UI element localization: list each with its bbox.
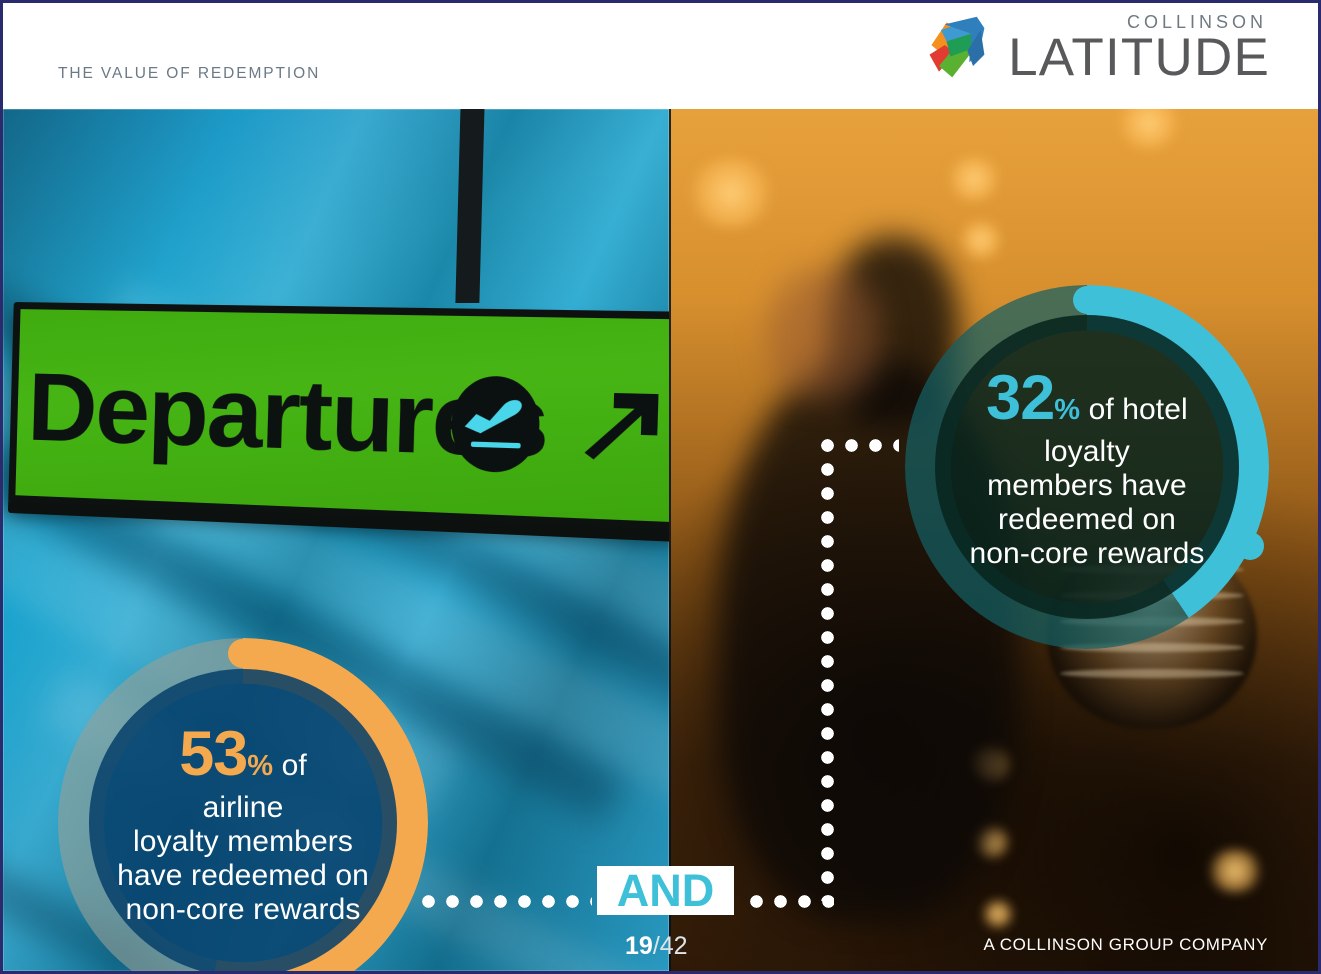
blurred-person — [769, 269, 879, 399]
page-number-total: /42 — [653, 932, 688, 960]
stat-text-airline: 53% of airline loyalty members have rede… — [101, 719, 385, 928]
dotted-connector-left — [422, 895, 592, 908]
brand-logo: COLLINSON LATITUDE — [918, 13, 1270, 83]
collinson-latitude-logo-mark-icon — [918, 13, 994, 83]
slide-body: Departures — [3, 109, 1321, 971]
stat-value-hotel: 32 — [986, 363, 1054, 433]
stat-line3-airline: loyalty members — [133, 825, 353, 858]
page-number: 19/42 — [625, 934, 688, 959]
departing-plane-icon — [450, 375, 541, 473]
logo-latitude-text: LATITUDE — [1008, 33, 1270, 83]
and-connector-badge: AND — [597, 866, 734, 915]
bokeh-light — [945, 155, 1003, 203]
page-number-current: 19 — [625, 932, 653, 960]
donut-arc-cap-end — [1236, 532, 1264, 560]
company-footer-text: A COLLINSON GROUP COMPANY — [983, 935, 1268, 955]
photo-divider — [669, 109, 671, 971]
sign-panel: Departures — [8, 302, 669, 530]
stat-text-hotel: 32% of hotel loyalty members have redeem… — [953, 363, 1220, 572]
stat-line5-hotel: non-core rewards — [969, 537, 1204, 570]
page-title: THE VALUE OF REDEMPTION — [58, 65, 320, 83]
donut-arc-cap-start — [1073, 286, 1101, 314]
stat-line4-airline: have redeemed on — [117, 859, 369, 892]
stat-line1-airline: of — [273, 749, 307, 782]
donut-core-hotel: 32% of hotel loyalty members have redeem… — [935, 315, 1239, 619]
arrow-up-right-icon — [561, 377, 669, 480]
slide-header: THE VALUE OF REDEMPTION COLLINSON LATITU… — [3, 3, 1318, 109]
stat-donut-hotel: 32% of hotel loyalty members have redeem… — [905, 285, 1269, 649]
stat-percent-airline: % — [247, 750, 273, 782]
stat-line4-hotel: redeemed on — [998, 503, 1176, 536]
stat-percent-hotel: % — [1054, 394, 1080, 426]
stat-line3-hotel: members have — [987, 469, 1187, 502]
stat-line1-hotel: of hotel — [1080, 393, 1188, 426]
donut-arc-cap-start — [228, 639, 257, 668]
departures-sign: Departures — [8, 302, 669, 530]
dotted-connector-top — [821, 439, 899, 452]
bokeh-light — [957, 219, 1005, 261]
and-label: AND — [617, 868, 715, 913]
bokeh-light — [1205, 849, 1265, 893]
presentation-slide: THE VALUE OF REDEMPTION COLLINSON LATITU… — [0, 0, 1321, 974]
stat-line2-airline: airline — [203, 791, 284, 824]
stat-value-airline: 53 — [179, 719, 247, 789]
dotted-connector-right — [750, 895, 834, 908]
logo-wordmark: COLLINSON LATITUDE — [1008, 13, 1270, 83]
stat-line2-hotel: loyalty — [1044, 435, 1130, 468]
dotted-connector-vertical — [821, 439, 834, 901]
bokeh-light — [683, 157, 779, 229]
slide-footer: 19/42 A COLLINSON GROUP COMPANY — [3, 921, 1318, 971]
